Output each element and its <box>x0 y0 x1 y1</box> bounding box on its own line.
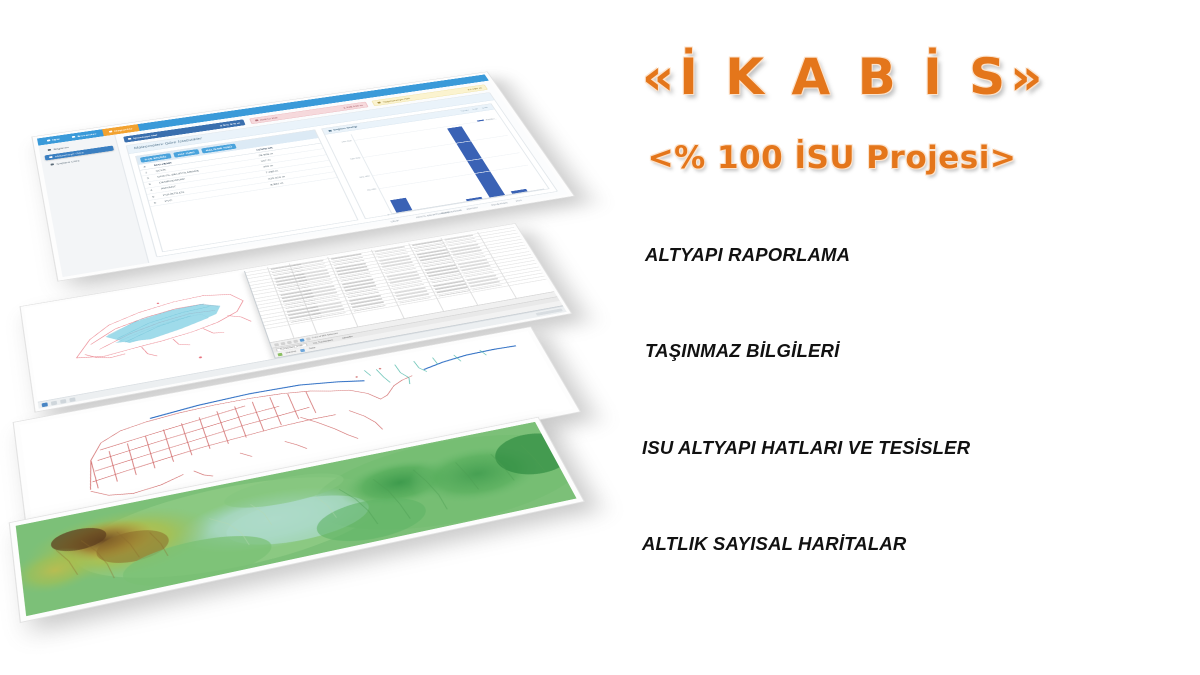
pan-tool-icon[interactable] <box>42 402 48 407</box>
chart-y-tick: 180.000 <box>350 157 361 161</box>
chart-action-download[interactable]: İndir <box>472 108 479 111</box>
chart-x-tick: DEMİR/DÖKME <box>441 209 462 214</box>
page-title: «İ K A B İ S» <box>642 48 1022 106</box>
chart-x-tick: PVC <box>516 200 523 203</box>
materials-table-panel: İLÇE SEÇİNİZ HAT TÜRÜ MALZEME TÜRÜ # <box>135 129 359 252</box>
bar-chart-icon <box>328 130 332 132</box>
home-icon <box>47 139 50 141</box>
distribution-chart-panel: Dağılım Grafiği Yazdır İndir Çıktı <box>321 103 550 219</box>
list-icon <box>50 163 54 165</box>
caption-altyapi-raporlama: ALTYAPI RAPORLAMA <box>645 244 850 266</box>
chart-icon <box>109 131 112 133</box>
chart-x-tick: POLİETİLEN <box>491 202 508 206</box>
kpi-label: Atıksu Hat <box>259 116 277 121</box>
chart-y-tick: 120.000 <box>359 175 371 179</box>
slide-root: İSU Envanter Raporlar <box>0 0 1200 675</box>
page-subtitle: <% 100 İSU Projesi> <box>642 140 1022 176</box>
caption-tasinmaz-bilgileri: TAŞINMAZ BİLGİLERİ <box>645 340 839 362</box>
kpi-label: İçmesuyu Hat <box>133 134 158 140</box>
drawing-icon <box>277 352 282 356</box>
kpi-value: 72.190 m <box>467 87 482 91</box>
chart-x-tick: AMYANT <box>466 207 479 211</box>
layers-icon <box>49 156 53 158</box>
rain-icon <box>378 102 382 104</box>
measure-tool-icon[interactable] <box>69 397 75 402</box>
table-icon <box>300 348 305 352</box>
chart-y-tick: 240.000 <box>341 139 352 143</box>
identify-tool-icon[interactable] <box>60 399 66 404</box>
layer-stack: İSU Envanter Raporlar <box>0 0 640 675</box>
sidebar-item-label: Çaplara Göre <box>56 159 79 165</box>
zoom-tool-icon[interactable] <box>51 400 57 405</box>
footer-drawing-label[interactable]: Drawing <box>286 350 297 354</box>
caption-isu-altyapi-hatlari: ISU ALTYAPI HATLARI VE TESİSLER <box>642 437 970 459</box>
sidebar-item-label: Bilgilerim <box>53 146 69 150</box>
water-icon <box>128 138 132 140</box>
grid-icon <box>72 136 75 138</box>
chart-y-tick: 80.000 <box>367 187 377 191</box>
kpi-value: 1.248.040 m <box>343 104 363 109</box>
kpi-value: 3.521.370 m <box>220 122 241 127</box>
chart-action-print[interactable]: Yazdır <box>460 109 469 112</box>
chart-action-export[interactable]: Çıktı <box>481 106 488 109</box>
user-icon <box>48 149 51 151</box>
right-panel: «İ K A B İ S» <% 100 İSU Projesi> ALTYAP… <box>628 0 1200 675</box>
drain-icon <box>255 119 259 121</box>
nav-brand-label: İSU <box>52 138 60 142</box>
kpi-label: Yağmursuyu Hat <box>382 97 410 103</box>
footer-table-label[interactable]: Table <box>309 347 316 350</box>
caption-altlik-sayisal-haritalar: ALTLIK SAYISAL HARİTALAR <box>642 533 906 555</box>
chart-x-tick: ÇELİK <box>390 220 399 223</box>
